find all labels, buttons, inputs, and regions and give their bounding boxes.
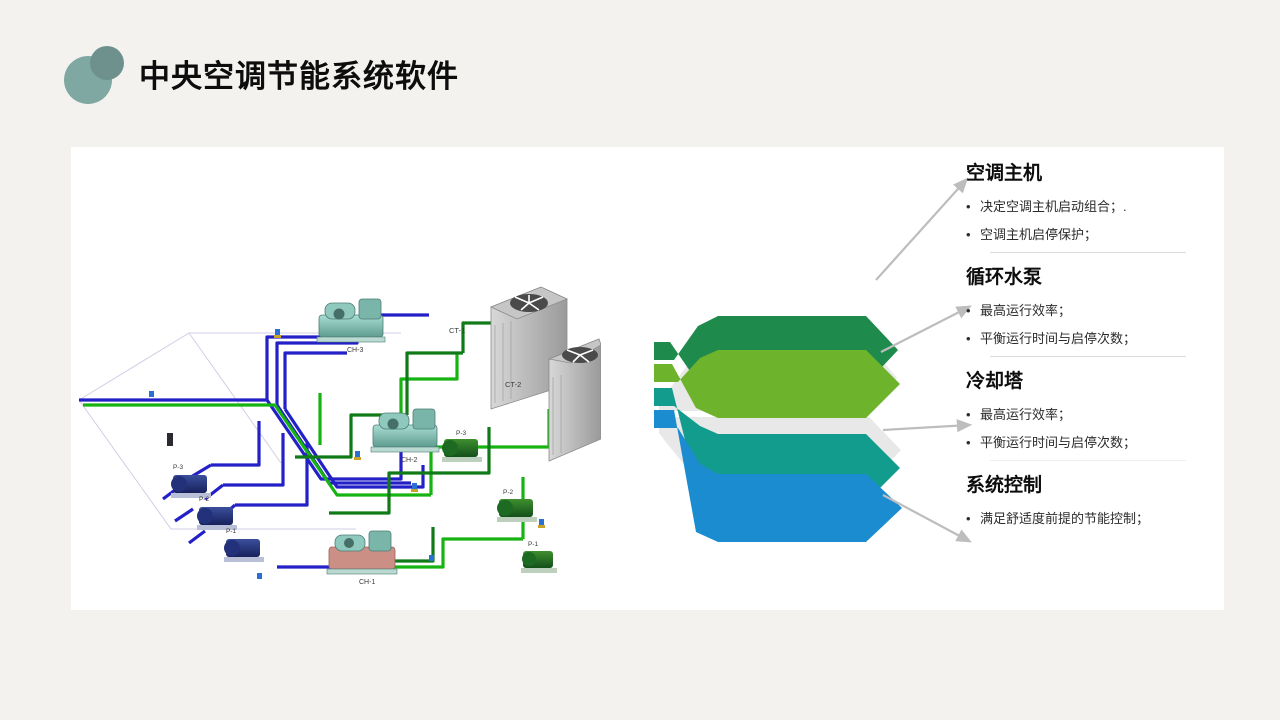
bullet-marker-icon: • [966,508,980,529]
svg-text:P-1: P-1 [226,528,237,535]
svg-text:P-2: P-2 [199,496,210,503]
pump-blue-p1: P-1 [224,528,264,562]
svg-text:P-3: P-3 [173,464,184,471]
bullet-item: • 最高运行效率； [966,404,1216,425]
pump-blue-p2: P-2 [197,496,237,530]
logo-circle-small [90,46,124,80]
svg-text:CH-3: CH-3 [347,347,363,354]
section-heading-3: 冷却塔 [966,369,1216,395]
bullet-item: • 决定空调主机启动组合；. [966,196,1216,217]
hvac-schematic-diagram: CT-1 CT-2 [71,147,601,610]
svg-text:P-2: P-2 [503,489,514,496]
bullet-marker-icon: • [966,224,980,245]
pump-green-p1: P-1 [521,541,557,573]
svg-text:P-3: P-3 [456,430,467,437]
bullet-text: 满足舒适度前提的节能控制； [980,508,1149,529]
svg-text:CH-1: CH-1 [359,579,375,586]
bullet-marker-icon: • [966,328,980,349]
pump-green-p3: P-3 [442,430,482,462]
bullet-marker-icon: • [966,196,980,217]
page-title: 中央空调节能系统软件 [139,58,459,96]
slide-root: 中央空调节能系统软件 [0,0,1280,720]
section-separator [990,356,1186,357]
chiller-ch3: CH-3 [317,299,385,354]
svg-text:CH-2: CH-2 [401,457,417,464]
bullet-item: • 满足舒适度前提的节能控制； [966,508,1216,529]
feature-block-system-control: 系统控制 • 满足舒适度前提的节能控制； [966,473,1216,529]
svg-text:CT-2: CT-2 [505,380,521,389]
bullet-item: • 最高运行效率； [966,300,1216,321]
section-separator [990,460,1186,461]
section-separator [990,252,1186,253]
feature-block-cooling-tower: 冷却塔 • 最高运行效率； • 平衡运行时间与启停次数； [966,369,1216,461]
bullet-item: • 平衡运行时间与启停次数； [966,328,1216,349]
section-heading-1: 空调主机 [966,161,1216,187]
section-heading-2: 循环水泵 [966,265,1216,291]
chiller-ch2: CH-2 [371,409,439,464]
svg-text:P-1: P-1 [528,541,539,548]
feature-block-air-conditioning-host: 空调主机 • 决定空调主机启动组合；. • 空调主机启停保护； [966,161,1216,253]
bullet-marker-icon: • [966,300,980,321]
svg-text:CT-1: CT-1 [449,326,465,335]
bullet-text: 平衡运行时间与启停次数； [980,432,1136,453]
bullet-marker-icon: • [966,432,980,453]
bullet-item: • 平衡运行时间与启停次数； [966,432,1216,453]
ribbon-arrow-group [566,242,926,592]
content-card: CT-1 CT-2 [71,147,1224,610]
bullet-text: 平衡运行时间与启停次数； [980,328,1136,349]
feature-list: 空调主机 • 决定空调主机启动组合；. • 空调主机启停保护； 循环水泵 • 最… [966,161,1216,536]
bullet-text: 最高运行效率； [980,300,1071,321]
section-heading-4: 系统控制 [966,473,1216,499]
pump-green-p2: P-2 [497,489,537,522]
bullet-text: 空调主机启停保护； [980,224,1097,245]
two-circles-logo-icon [64,46,126,104]
bullet-text: 最高运行效率； [980,404,1071,425]
feature-block-circulating-pump: 循环水泵 • 最高运行效率； • 平衡运行时间与启停次数； [966,265,1216,357]
chiller-ch1: CH-1 [327,531,397,586]
bullet-item: • 空调主机启停保护； [966,224,1216,245]
bullet-marker-icon: • [966,404,980,425]
bullet-text: 决定空调主机启动组合；. [980,196,1127,217]
